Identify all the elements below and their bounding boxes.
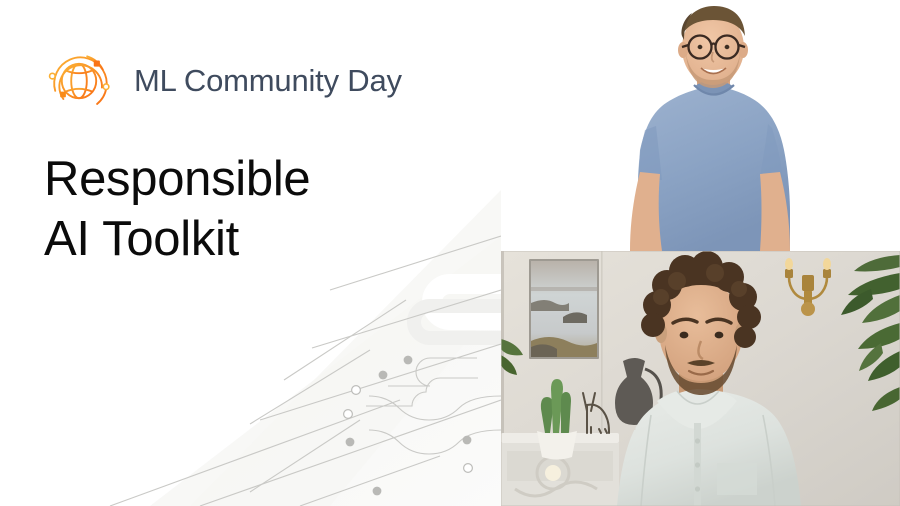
globe-orbit-icon <box>38 40 120 122</box>
brand-name-text: ML Community Day <box>134 63 402 99</box>
brand-lockup: ML Community Day <box>38 40 402 122</box>
seascape-painting <box>529 259 599 359</box>
webcam-video-tile[interactable] <box>501 251 900 506</box>
page-title: Responsible AI Toolkit <box>44 150 310 270</box>
presenter-cutout-photo <box>600 0 900 251</box>
slide-canvas: ML Community Day Responsible AI Toolkit <box>0 0 900 506</box>
